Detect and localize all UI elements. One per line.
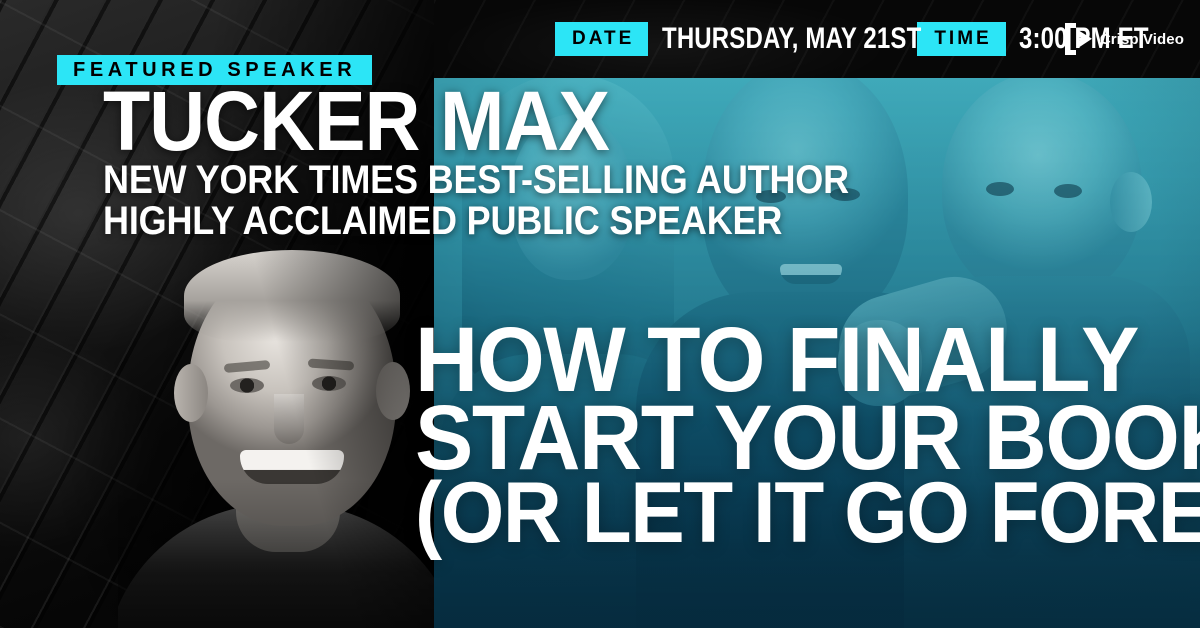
headline-line-3: (OR LET IT GO FOREVER) xyxy=(415,477,1175,550)
time-chip-label: TIME xyxy=(917,22,1005,56)
speaker-credentials: NEW YORK TIMES BEST-SELLING AUTHOR HIGHL… xyxy=(103,160,849,242)
date-chip-label: DATE xyxy=(555,22,648,56)
headline: HOW TO FINALLY START YOUR BOOK (OR LET I… xyxy=(415,322,1175,550)
speaker-credential-1: NEW YORK TIMES BEST-SELLING AUTHOR xyxy=(103,160,849,201)
speaker-portrait-image xyxy=(118,236,436,628)
brand-logo-text: Crisp Video xyxy=(1100,31,1184,48)
speaker-credential-2: HIGHLY ACCLAIMED PUBLIC SPEAKER xyxy=(103,201,849,242)
crisp-video-play-bracket-icon xyxy=(1063,22,1093,56)
event-details-bar: DATE THURSDAY, MAY 21ST TIME 3:00 PM ET … xyxy=(434,0,1200,78)
webinar-promo-banner: DATE THURSDAY, MAY 21ST TIME 3:00 PM ET … xyxy=(0,0,1200,628)
brand-logo[interactable]: Crisp Video xyxy=(1063,22,1184,56)
date-value: THURSDAY, MAY 21ST xyxy=(662,24,866,54)
speaker-name: TUCKER MAX xyxy=(103,88,609,155)
